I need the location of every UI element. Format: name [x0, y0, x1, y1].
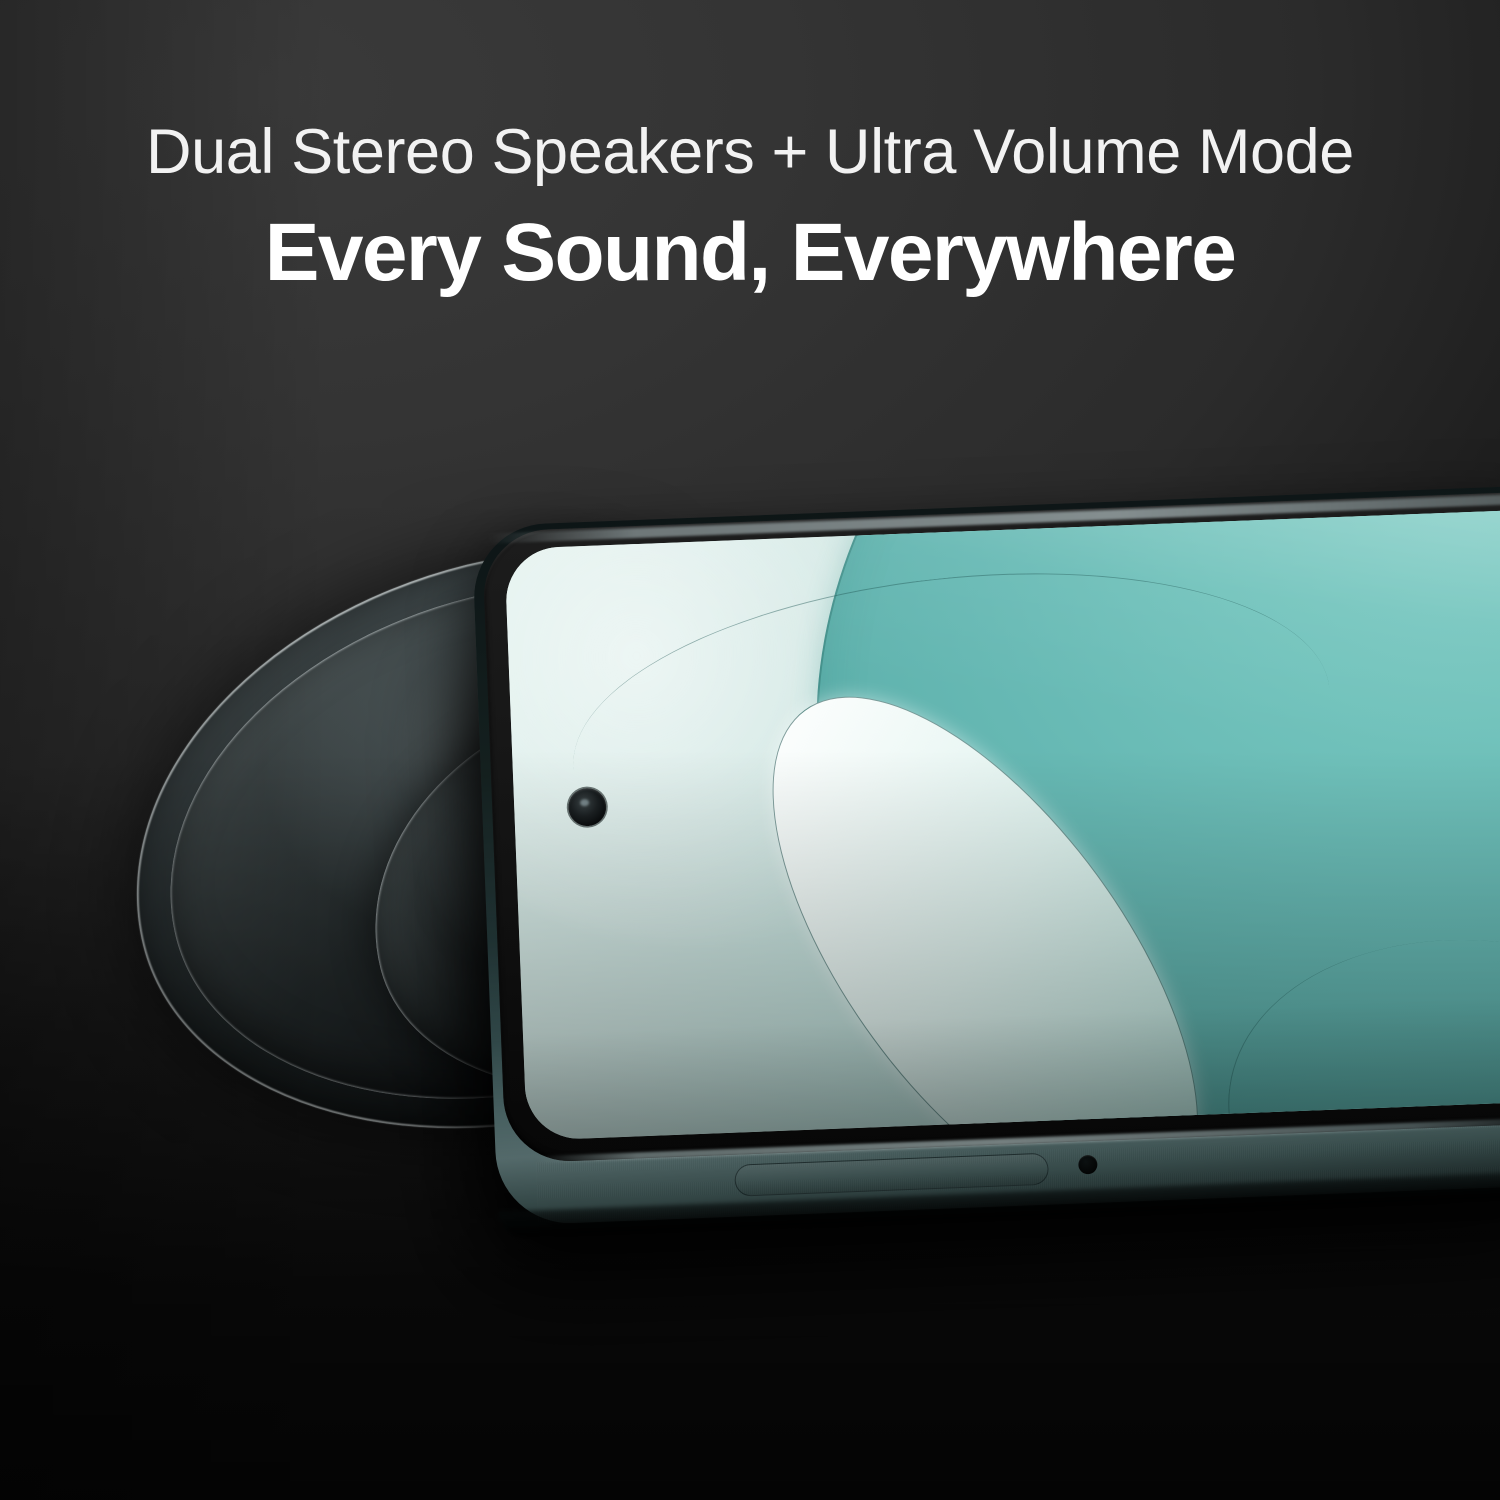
promo-banner: Dual Stereo Speakers + Ultra Volume Mode… — [0, 0, 1500, 1500]
phone-device — [471, 486, 1500, 1238]
headline-block: Dual Stereo Speakers + Ultra Volume Mode… — [0, 118, 1500, 298]
phone-screen — [504, 510, 1500, 1141]
eyebrow-text: Dual Stereo Speakers + Ultra Volume Mode — [0, 118, 1500, 186]
headline-text: Every Sound, Everywhere — [0, 208, 1500, 298]
